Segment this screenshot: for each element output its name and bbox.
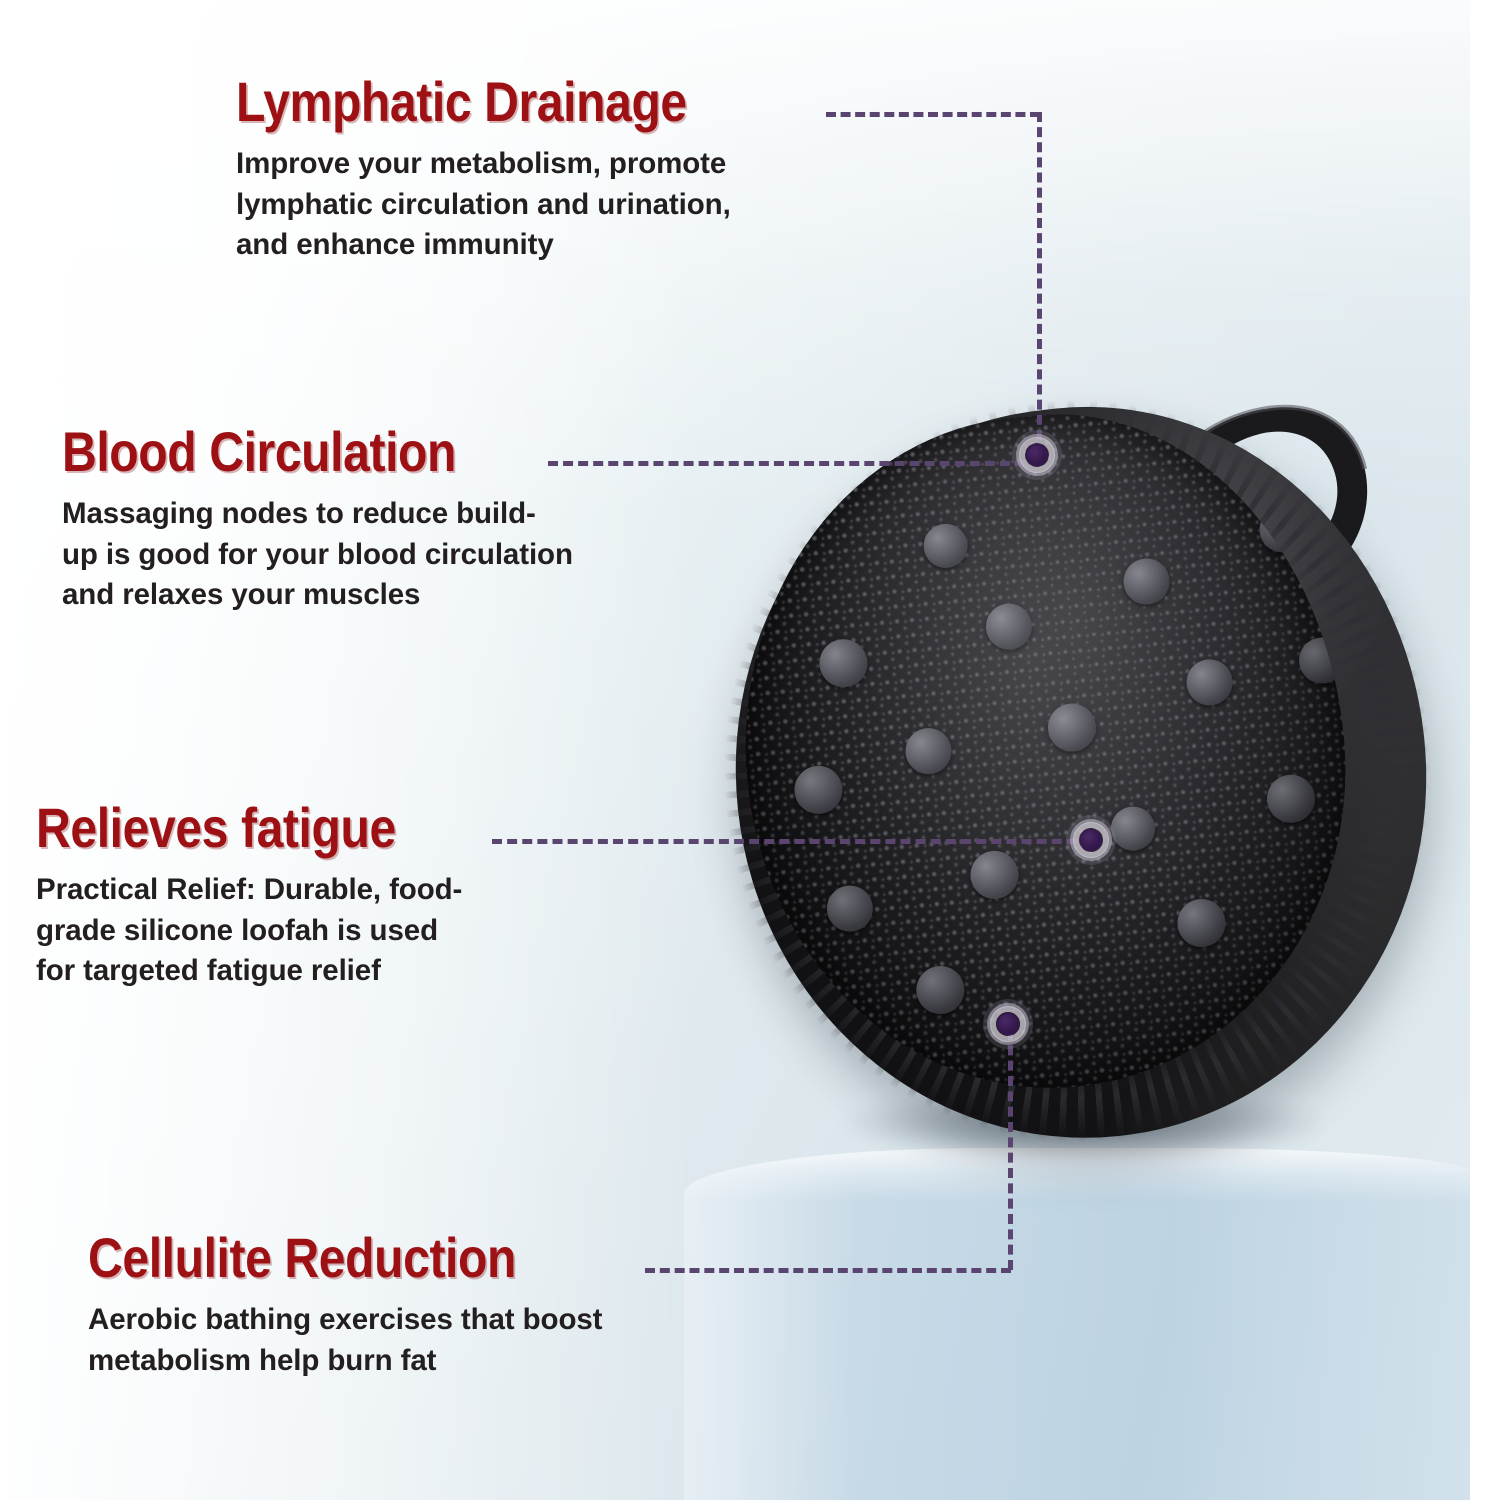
connector-blood-horizontal [548, 461, 1040, 466]
marker-middle[interactable] [1074, 823, 1108, 857]
canvas-left-margin [0, 0, 7, 1500]
callout-description: Massaging nodes to reduce build- up is g… [62, 494, 573, 616]
marker-core-icon [998, 1014, 1018, 1034]
product-pedestal [684, 1148, 1474, 1500]
connector-cellulite-vertical [1008, 1030, 1013, 1270]
canvas-right-margin [1470, 0, 1500, 1500]
marker-core-icon [1081, 830, 1101, 850]
marker-bottom[interactable] [991, 1007, 1025, 1041]
callout-description: Improve your metabolism, promote lymphat… [236, 144, 760, 266]
marker-top[interactable] [1020, 438, 1054, 472]
infographic-canvas: Lymphatic Drainage Improve your metaboli… [0, 0, 1500, 1500]
connector-fatigue-horizontal [492, 839, 1092, 844]
callout-title: Lymphatic Drainage [236, 74, 687, 130]
callout-description: Aerobic bathing exercises that boost met… [88, 1300, 602, 1381]
callout-blood-circulation: Blood Circulation Massaging nodes to red… [62, 424, 573, 616]
callout-title: Blood Circulation [62, 424, 501, 480]
product-image [718, 398, 1438, 1168]
callout-cellulite-reduction: Cellulite Reduction Aerobic bathing exer… [88, 1230, 602, 1381]
connector-lymphatic-horizontal [826, 112, 1040, 117]
marker-core-icon [1027, 445, 1047, 465]
callout-lymphatic-drainage: Lymphatic Drainage Improve your metaboli… [236, 74, 760, 266]
callout-title: Relieves fatigue [36, 800, 403, 856]
callout-description: Practical Relief: Durable, food- grade s… [36, 870, 462, 992]
pad-shading [718, 391, 1372, 1113]
connector-lymphatic-vertical [1037, 112, 1042, 455]
connector-cellulite-horizontal [645, 1268, 1011, 1273]
bristle-pad [718, 391, 1372, 1113]
callout-relieves-fatigue: Relieves fatigue Practical Relief: Durab… [36, 800, 462, 992]
callout-title: Cellulite Reduction [88, 1230, 530, 1286]
